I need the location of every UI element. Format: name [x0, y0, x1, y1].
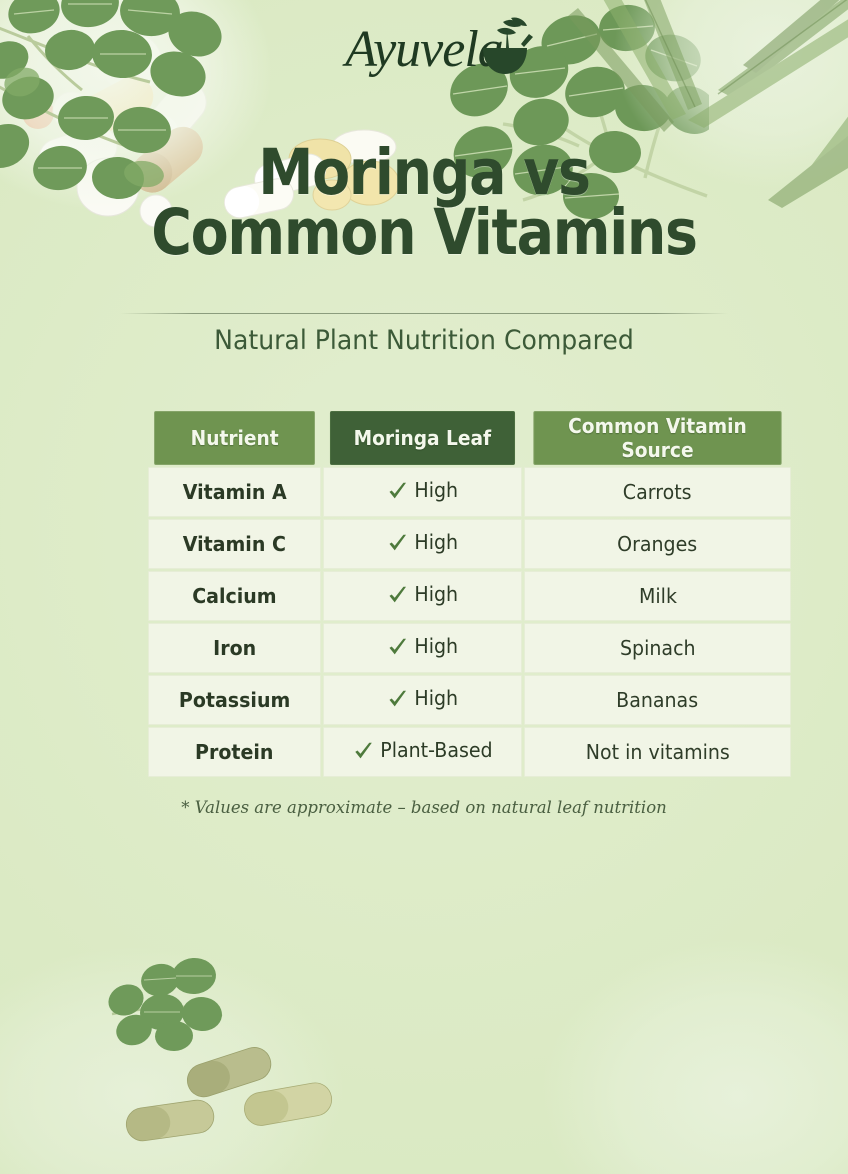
- comparison-table: Nutrient Moringa Leaf Common Vitamin Sou…: [146, 409, 793, 779]
- table-header-row: Nutrient Moringa Leaf Common Vitamin Sou…: [148, 411, 791, 465]
- cell-nutrient: Vitamin A: [148, 467, 321, 517]
- page-subtitle: Natural Plant Nutrition Compared: [30, 325, 819, 356]
- table-row: Potassium High Bananas: [148, 675, 791, 725]
- cell-source: Bananas: [524, 675, 791, 725]
- cell-source: Spinach: [524, 623, 791, 673]
- cell-nutrient: Potassium: [148, 675, 321, 725]
- table-row: Protein Plant-Based Not in vitamins: [148, 727, 791, 777]
- column-header-moringa-leaf: Moringa Leaf: [330, 411, 515, 465]
- table-row: Calcium High Milk: [148, 571, 791, 621]
- check-icon: [387, 480, 408, 502]
- column-header-nutrient: Nutrient: [154, 411, 315, 465]
- check-icon: [387, 688, 408, 710]
- poster-canvas: Ayuvela Moringa vs Common Vitamins Natur…: [0, 0, 848, 1174]
- mortar-and-pestle-icon: [477, 14, 533, 80]
- cell-source: Carrots: [524, 467, 791, 517]
- cell-moringa: Plant-Based: [323, 727, 522, 777]
- check-icon: [387, 584, 408, 606]
- brand-logo: Ayuvela: [0, 24, 848, 96]
- cell-nutrient: Vitamin C: [148, 519, 321, 569]
- table-row: Iron High Spinach: [148, 623, 791, 673]
- cell-moringa: High: [323, 571, 522, 621]
- cell-nutrient: Iron: [148, 623, 321, 673]
- title-line-2: Common Vitamins: [51, 203, 797, 263]
- cell-source: Not in vitamins: [524, 727, 791, 777]
- table-row: Vitamin C High Oranges: [148, 519, 791, 569]
- cell-moringa: High: [323, 675, 522, 725]
- page-title: Moringa vs Common Vitamins: [0, 143, 848, 264]
- cell-moringa: High: [323, 467, 522, 517]
- cell-nutrient: Calcium: [148, 571, 321, 621]
- title-divider: [120, 313, 728, 314]
- check-icon: [387, 636, 408, 658]
- footnote: * Values are approximate – based on natu…: [13, 798, 836, 818]
- cell-nutrient: Protein: [148, 727, 321, 777]
- background-wash-bottom-right: [498, 904, 848, 1174]
- column-header-common-vitamin-source: Common Vitamin Source: [533, 411, 781, 465]
- check-icon: [387, 532, 408, 554]
- moringa-sprig-with-capsules-bottom-left: [108, 952, 378, 1152]
- check-icon: [353, 740, 374, 762]
- cell-source: Oranges: [524, 519, 791, 569]
- cell-source: Milk: [524, 571, 791, 621]
- table-row: Vitamin A High Carrots: [148, 467, 791, 517]
- cell-moringa: High: [323, 519, 522, 569]
- cell-moringa: High: [323, 623, 522, 673]
